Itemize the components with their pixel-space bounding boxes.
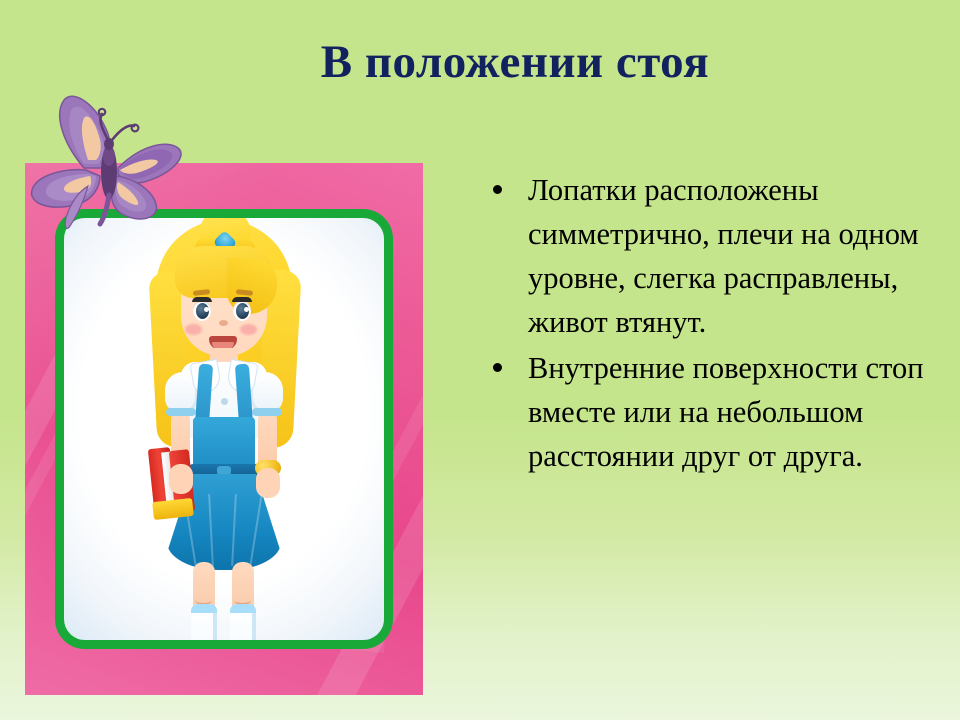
sleeve-cuff-right bbox=[252, 408, 282, 416]
bullet-list: Лопатки расположены симметрично, плечи н… bbox=[480, 168, 940, 480]
eye-glint-left bbox=[204, 307, 209, 312]
hand-right bbox=[256, 468, 280, 498]
blouse-button bbox=[221, 398, 228, 405]
bullet-text: Внутренние поверхности стоп вместе или н… bbox=[528, 351, 924, 473]
cheek-left bbox=[185, 324, 202, 335]
illustration-frame bbox=[25, 163, 423, 695]
shoe-strap-right bbox=[229, 640, 257, 647]
shoe-left bbox=[188, 644, 220, 649]
eyelash-right bbox=[232, 297, 252, 302]
shoe-strap-left bbox=[190, 640, 218, 647]
slide: В положении стоя bbox=[0, 0, 960, 720]
bullet-marker bbox=[493, 185, 502, 194]
eye-right bbox=[233, 300, 251, 321]
schoolgirl-illustration bbox=[109, 212, 339, 649]
bullet-item-1: Лопатки расположены симметрично, плечи н… bbox=[480, 168, 940, 344]
eye-left bbox=[193, 300, 211, 321]
iris-left bbox=[196, 303, 209, 319]
butterfly-icon bbox=[22, 90, 202, 232]
illustration-canvas bbox=[55, 209, 393, 649]
pinafore-bodice bbox=[193, 417, 255, 471]
bullet-item-2: Внутренние поверхности стоп вместе или н… bbox=[480, 346, 940, 478]
sleeve-cuff-left bbox=[166, 408, 196, 416]
sock-cuff-left bbox=[191, 604, 217, 613]
shoe-right bbox=[227, 644, 259, 649]
floor-shadow bbox=[161, 644, 289, 649]
bullet-text: Лопатки расположены симметрично, плечи н… bbox=[528, 173, 919, 339]
sock-cuff-right bbox=[230, 604, 256, 613]
cheek-right bbox=[240, 324, 257, 335]
eye-glint-right bbox=[244, 307, 249, 312]
page-title: В положении стоя bbox=[0, 38, 960, 87]
nose bbox=[219, 320, 228, 326]
iris-right bbox=[236, 303, 249, 319]
eyelash-left bbox=[192, 297, 212, 302]
bullet-marker bbox=[493, 363, 502, 372]
belt-buckle bbox=[217, 466, 231, 475]
hand-left bbox=[169, 464, 193, 494]
